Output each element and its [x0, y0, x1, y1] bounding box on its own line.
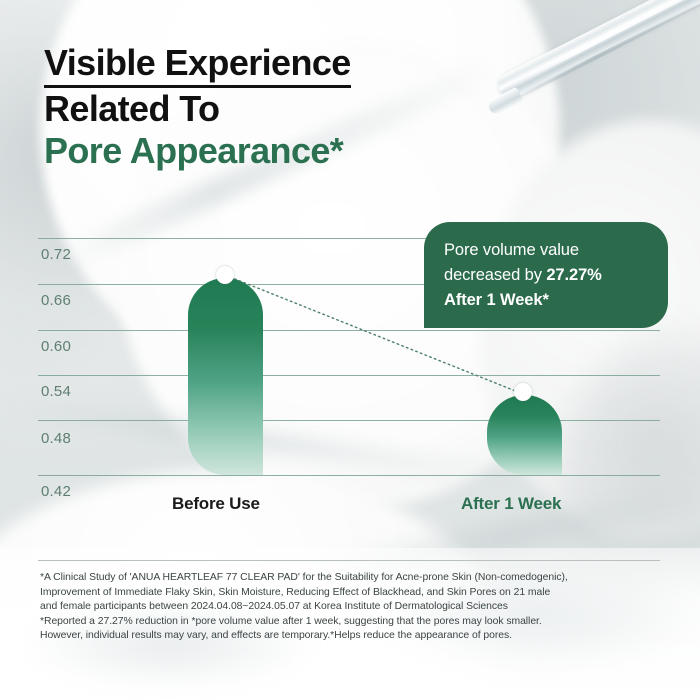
footnote-divider — [38, 560, 660, 561]
footnote-line-4: *Reported a 27.27% reduction in *pore vo… — [40, 615, 666, 630]
y-axis-tick-5: 0.42 — [41, 483, 71, 500]
callout-bubble: Pore volume valuedecreased by 27.27%Afte… — [424, 222, 668, 328]
promo-graphic: Visible Experience Related To Pore Appea… — [0, 0, 700, 700]
data-marker-before-use — [216, 266, 234, 284]
callout-line-1: Pore volume value — [444, 241, 579, 259]
y-axis-tick-2: 0.60 — [41, 338, 71, 355]
footnote-block: *A Clinical Study of 'ANUA HEARTLEAF 77 … — [40, 571, 666, 644]
x-axis-label-after-1-week: After 1 Week — [461, 494, 561, 514]
gridline-0-48 — [38, 420, 660, 421]
x-axis-label-before-use: Before Use — [172, 494, 260, 514]
footnote-line-2: Improvement of Immediate Flaky Skin, Ski… — [40, 586, 666, 601]
footnote-line-3: and female participants between 2024.04.… — [40, 600, 666, 615]
gridline-0-60 — [38, 330, 660, 331]
bar-before-use-fill — [188, 278, 263, 475]
y-axis-tick-3: 0.54 — [41, 383, 71, 400]
footnote-line-1: *A Clinical Study of 'ANUA HEARTLEAF 77 … — [40, 571, 666, 586]
callout-value: 27.27% — [546, 266, 601, 284]
y-axis-tick-1: 0.66 — [41, 292, 71, 309]
y-axis-tick-4: 0.48 — [41, 430, 71, 447]
data-marker-after-1-week — [514, 383, 532, 401]
callout-text: Pore volume valuedecreased by 27.27%Afte… — [444, 238, 652, 313]
gridline-0-54 — [38, 375, 660, 376]
bar-before-use — [188, 278, 263, 475]
bar-after-1-week — [487, 395, 562, 475]
callout-line-2-prefix: decreased by — [444, 266, 546, 284]
footnote-line-5: However, individual results may vary, an… — [40, 629, 666, 644]
bar-after-1-week-fill — [487, 395, 562, 475]
y-axis-tick-0: 0.72 — [41, 246, 71, 263]
gridline-0-42 — [38, 475, 660, 476]
callout-line-3: After 1 Week* — [444, 291, 549, 309]
